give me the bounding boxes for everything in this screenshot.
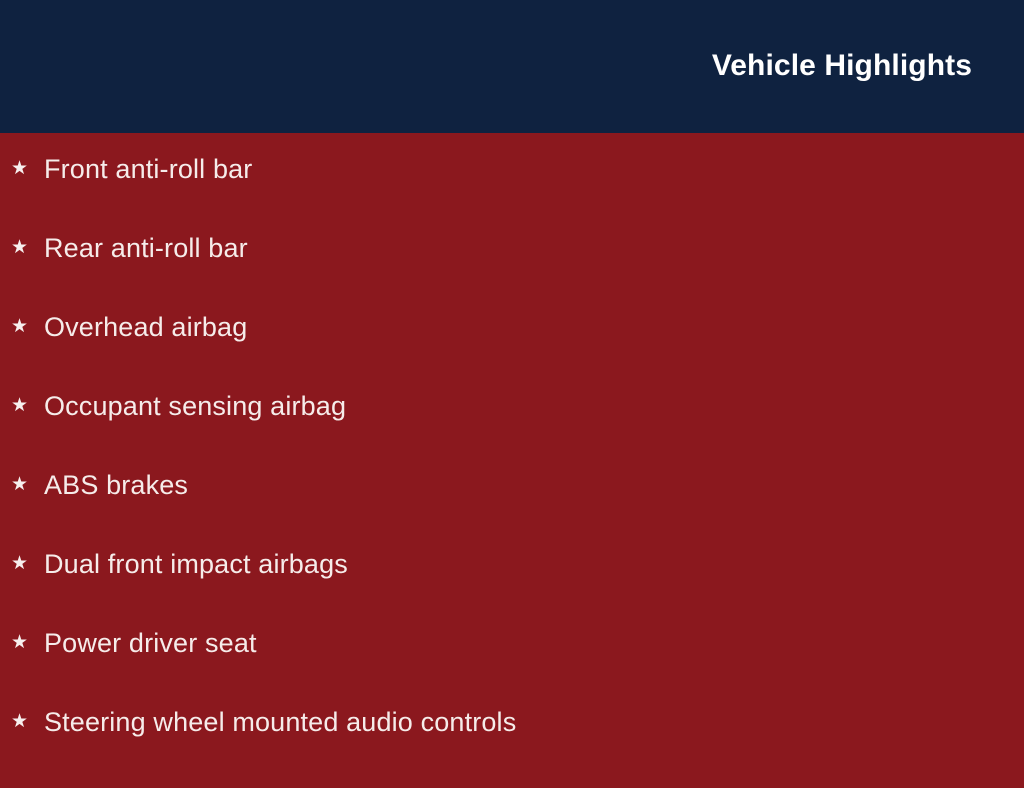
list-item-label: Power driver seat bbox=[44, 630, 257, 657]
list-item: ★ Steering wheel mounted audio controls bbox=[0, 709, 1024, 788]
list-item: ★ Occupant sensing airbag bbox=[0, 393, 1024, 472]
list-item-label: Steering wheel mounted audio controls bbox=[44, 709, 516, 736]
list-item-label: ABS brakes bbox=[44, 472, 188, 499]
star-icon: ★ bbox=[11, 633, 44, 652]
slide-header-band: Vehicle Highlights bbox=[0, 0, 1024, 133]
list-item-label: Dual front impact airbags bbox=[44, 551, 348, 578]
list-item: ★ Front anti-roll bar bbox=[0, 156, 1024, 235]
page-title: Vehicle Highlights bbox=[712, 51, 972, 81]
star-icon: ★ bbox=[11, 475, 44, 494]
list-item: ★ Dual front impact airbags bbox=[0, 551, 1024, 630]
slide-content-area: ★ Front anti-roll bar ★ Rear anti-roll b… bbox=[0, 133, 1024, 768]
star-icon: ★ bbox=[11, 159, 44, 178]
star-icon: ★ bbox=[11, 396, 44, 415]
list-item-label: Rear anti-roll bar bbox=[44, 235, 248, 262]
slide-canvas: Vehicle Highlights ★ Front anti-roll bar… bbox=[0, 0, 1024, 768]
star-icon: ★ bbox=[11, 712, 44, 731]
list-item-label: Front anti-roll bar bbox=[44, 156, 252, 183]
list-item: ★ Rear anti-roll bar bbox=[0, 235, 1024, 314]
star-icon: ★ bbox=[11, 238, 44, 257]
list-item: ★ Overhead airbag bbox=[0, 314, 1024, 393]
vehicle-highlights-list: ★ Front anti-roll bar ★ Rear anti-roll b… bbox=[0, 133, 1024, 788]
star-icon: ★ bbox=[11, 317, 44, 336]
star-icon: ★ bbox=[11, 554, 44, 573]
list-item: ★ ABS brakes bbox=[0, 472, 1024, 551]
list-item: ★ Power driver seat bbox=[0, 630, 1024, 709]
list-item-label: Overhead airbag bbox=[44, 314, 247, 341]
list-item-label: Occupant sensing airbag bbox=[44, 393, 346, 420]
